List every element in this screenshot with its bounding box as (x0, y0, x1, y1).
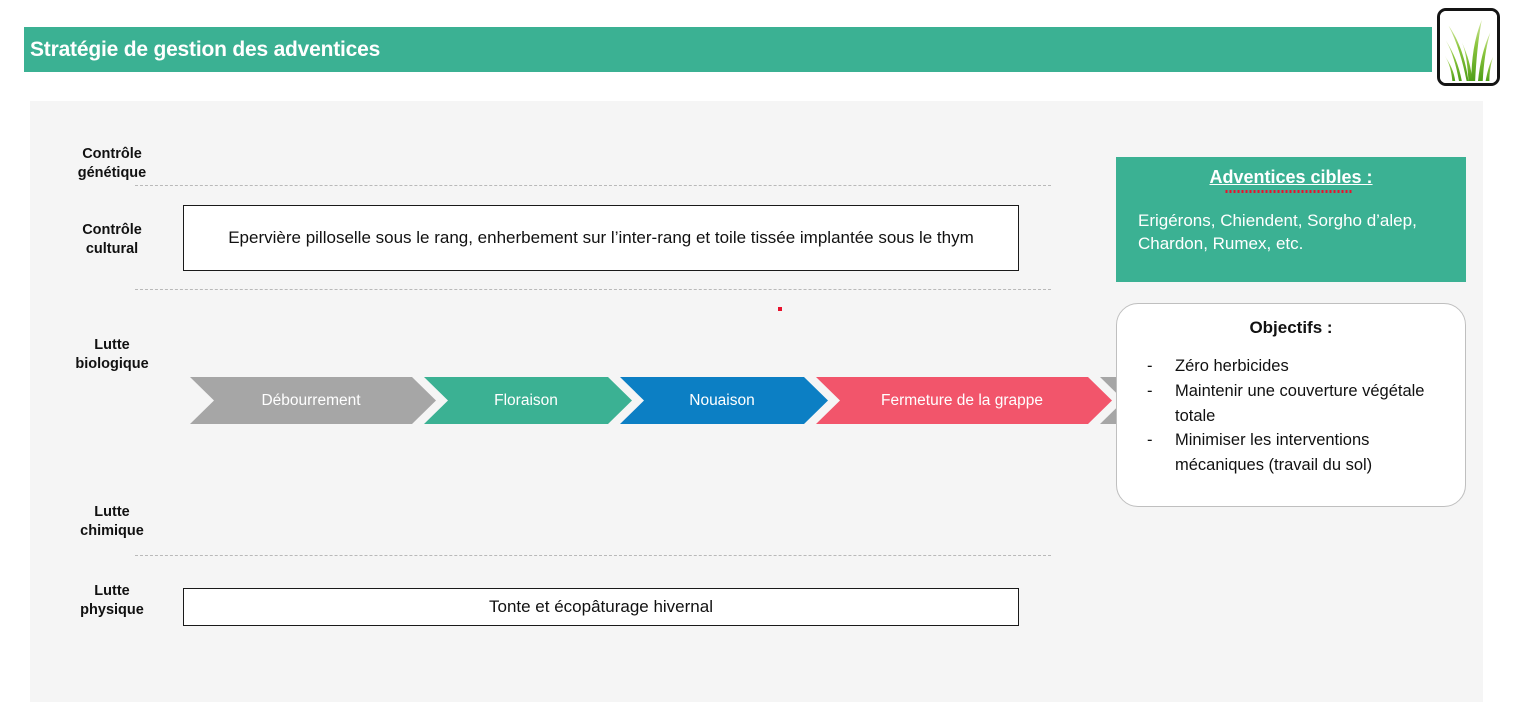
stage-chevron-debourrement[interactable]: Débourrement (190, 377, 436, 424)
row-label-lutte-physique: Lutte physique (52, 582, 172, 619)
objectives-item-text: Minimiser les interventions mécaniques (… (1175, 431, 1372, 474)
target-weeds-card: Adventices cibles : Erigérons, Chiendent… (1116, 157, 1466, 282)
objectives-list-item: - Minimiser les interventions mécaniques… (1147, 428, 1447, 478)
objectives-item-text: Maintenir une couverture végétale totale (1175, 382, 1424, 425)
row-separator (135, 289, 1051, 290)
row-label-line: génétique (52, 164, 172, 183)
row-label-line: Contrôle (52, 221, 172, 240)
cultural-control-textbox: Epervière pilloselle sous le rang, enher… (183, 205, 1019, 271)
objectives-card: Objectifs : - Zéro herbicides - Mainteni… (1116, 303, 1466, 507)
stage-label: Nouaison (689, 392, 755, 410)
stage-label: Fermeture de la grappe (881, 392, 1043, 410)
objectives-list-item: - Zéro herbicides (1147, 354, 1447, 379)
row-separator (135, 185, 1051, 186)
row-label-line: Lutte (52, 336, 172, 355)
stage-chevron-nouaison[interactable]: Nouaison (620, 377, 828, 424)
stage-chevron-floraison[interactable]: Floraison (424, 377, 632, 424)
stage-chevron-fermeture-grappe[interactable]: Fermeture de la grappe (816, 377, 1112, 424)
row-label-line: Contrôle (52, 145, 172, 164)
stage-label: Floraison (494, 392, 558, 410)
page-header-bar: Stratégie de gestion des adventices (24, 27, 1432, 72)
target-weeds-list: Erigérons, Chiendent, Sorgho d’alep, Cha… (1138, 210, 1444, 256)
row-label-line: cultural (52, 240, 172, 259)
red-dot-artifact (778, 307, 782, 311)
list-bullet-dash: - (1147, 354, 1153, 379)
row-label-line: chimique (52, 522, 172, 541)
objectives-item-text: Zéro herbicides (1175, 357, 1289, 375)
stage-label: Débourrement (261, 392, 360, 410)
slide-panel: Contrôle génétique Contrôle cultural Lut… (30, 101, 1483, 702)
list-bullet-dash: - (1147, 379, 1153, 404)
row-label-line: physique (52, 601, 172, 620)
target-weeds-title: Adventices cibles : (1209, 167, 1372, 188)
row-label-line: biologique (52, 355, 172, 374)
row-label-lutte-biologique: Lutte biologique (52, 336, 172, 373)
row-label-controle-cultural: Contrôle cultural (52, 221, 172, 258)
row-label-line: Lutte (52, 503, 172, 522)
objectives-list-item: - Maintenir une couverture végétale tota… (1147, 379, 1447, 429)
row-label-lutte-chimique: Lutte chimique (52, 503, 172, 540)
row-label-controle-genetique: Contrôle génétique (52, 145, 172, 182)
objectives-title: Objectifs : (1135, 318, 1447, 338)
objectives-list: - Zéro herbicides - Maintenir une couver… (1135, 354, 1447, 478)
grass-logo-icon (1437, 8, 1500, 86)
row-separator (135, 555, 1051, 556)
page-title: Stratégie de gestion des adventices (24, 38, 380, 62)
row-label-line: Lutte (52, 582, 172, 601)
physical-control-textbox: Tonte et écopâturage hivernal (183, 588, 1019, 626)
list-bullet-dash: - (1147, 428, 1153, 453)
